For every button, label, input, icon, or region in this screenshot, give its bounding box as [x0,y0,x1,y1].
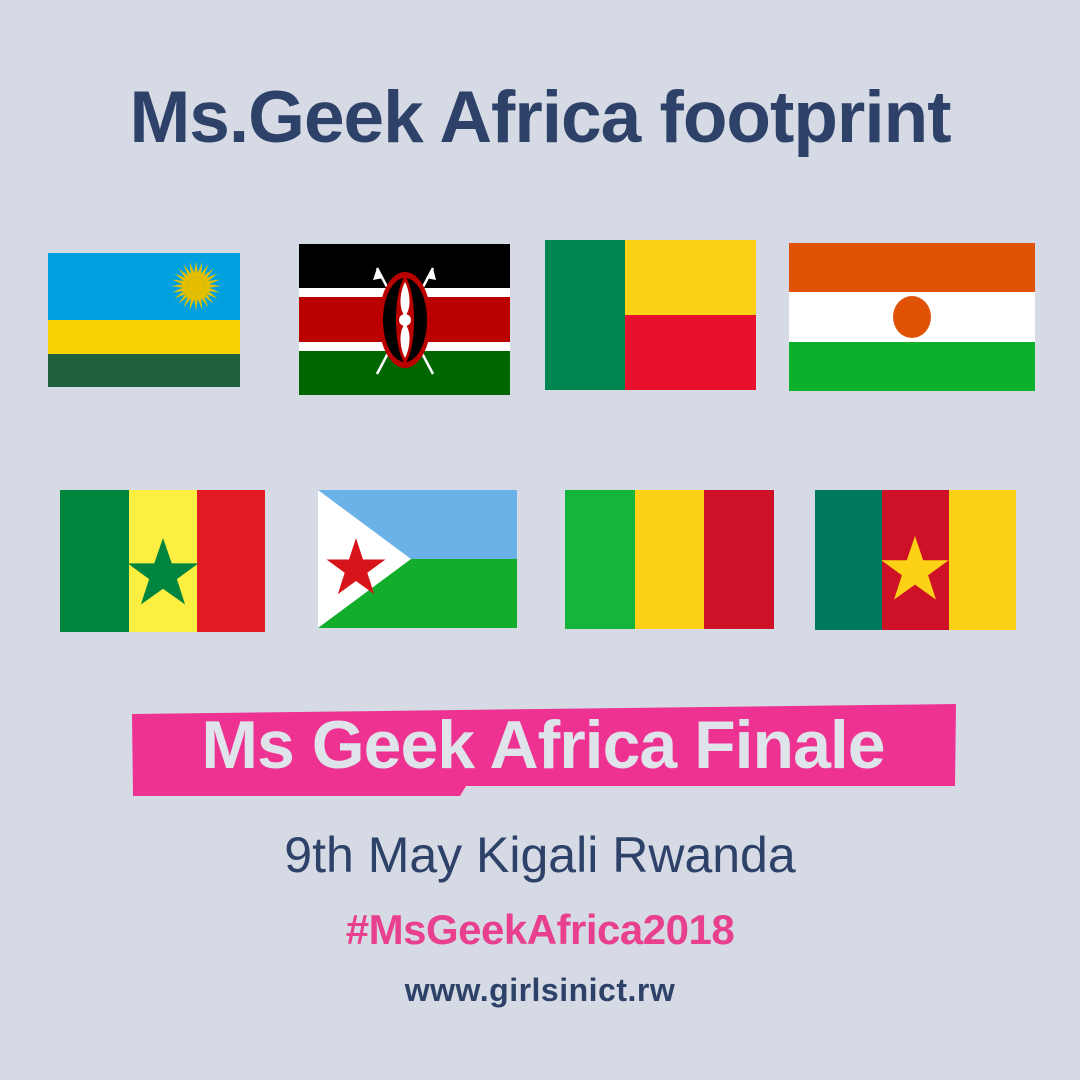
event-date-location: 9th May Kigali Rwanda [0,826,1080,884]
flag-row-1 [0,240,1080,410]
event-website[interactable]: www.girlsinict.rw [0,972,1080,1009]
flag-kenya-icon [299,244,510,395]
flag-row-2 [0,482,1080,652]
flag-rwanda-icon [48,253,240,387]
flag-senegal-icon [60,490,265,632]
page-title: Ms.Geek Africa footprint [0,76,1080,159]
flag-cameroon-icon [815,490,1016,630]
event-hashtag: #MsGeekAfrica2018 [0,906,1080,954]
finale-banner: Ms Geek Africa Finale [128,700,958,800]
poster-canvas: Ms.Geek Africa footprint [0,0,1080,1080]
flag-mali-icon [565,490,774,629]
flag-djibouti-icon [318,490,517,628]
finale-banner-label: Ms Geek Africa Finale [128,706,958,784]
flag-niger-icon [789,243,1035,391]
flag-benin-icon [545,240,756,390]
